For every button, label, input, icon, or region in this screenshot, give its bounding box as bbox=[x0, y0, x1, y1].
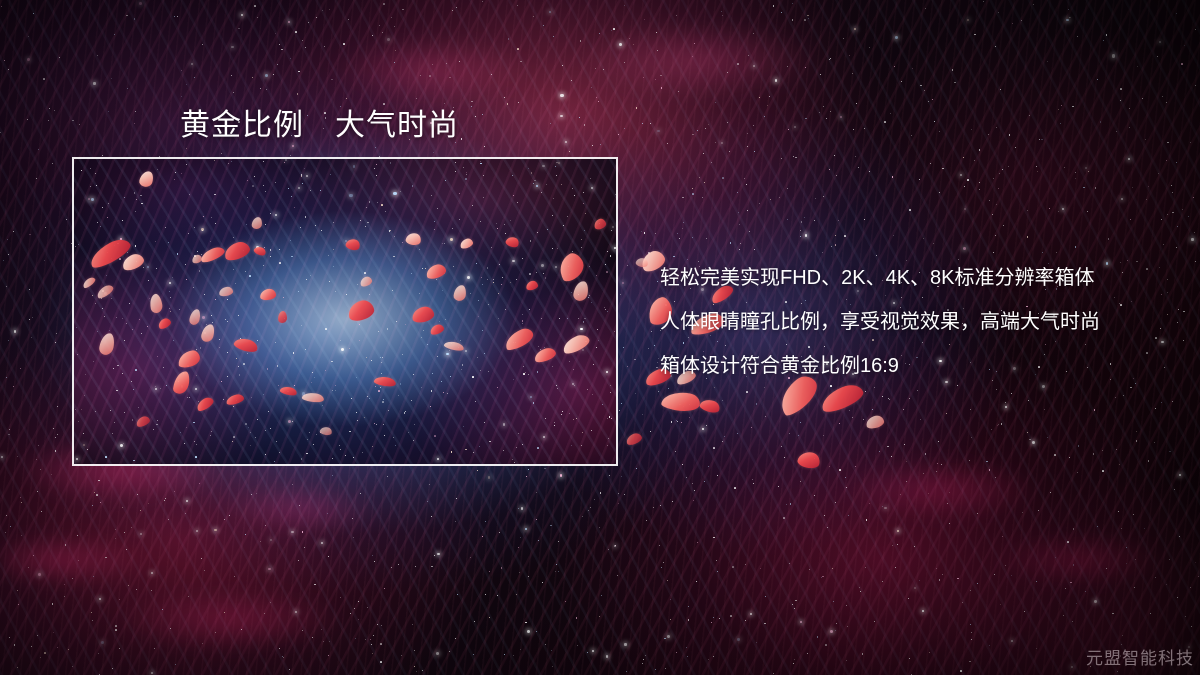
body-text-block: 轻松完美实现FHD、2K、4K、8K标准分辨率箱体 人体眼睛瞳孔比例，享受视觉效… bbox=[660, 256, 1180, 388]
framed-image bbox=[72, 157, 618, 466]
watermark: 元盟智能科技 bbox=[1086, 644, 1194, 669]
body-line-1: 轻松完美实现FHD、2K、4K、8K标准分辨率箱体 bbox=[660, 256, 1180, 300]
body-line-2: 人体眼睛瞳孔比例，享受视觉效果，高端大气时尚 bbox=[660, 300, 1180, 344]
body-line-3: 箱体设计符合黄金比例16:9 bbox=[660, 344, 1180, 388]
page-title: 黄金比例 大气时尚 bbox=[180, 100, 459, 144]
slide-canvas: 黄金比例 大气时尚 轻松完美实现FHD、2K、4K、8K标准分辨率箱体 人体眼睛… bbox=[0, 0, 1200, 675]
